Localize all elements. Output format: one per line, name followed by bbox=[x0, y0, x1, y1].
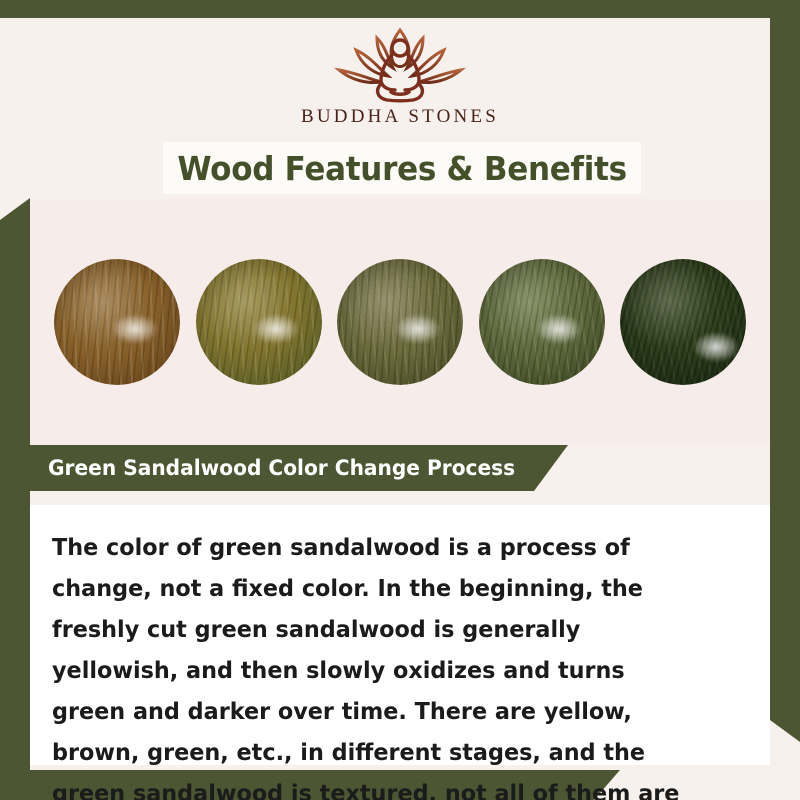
bead-stage-5 bbox=[620, 259, 746, 385]
bead-highlight bbox=[693, 332, 739, 362]
bead-gallery bbox=[30, 199, 770, 445]
bead-stage-3 bbox=[337, 259, 463, 385]
infographic-page: BUDDHA STONES Wood Features & Benefits bbox=[0, 0, 800, 800]
description-panel: The color of green sandalwood is a proce… bbox=[30, 505, 770, 765]
section-banner: Green Sandalwood Color Change Process bbox=[30, 445, 568, 491]
section-banner-title: Green Sandalwood Color Change Process bbox=[48, 456, 515, 480]
lotus-meditation-icon bbox=[325, 22, 475, 104]
page-title: Wood Features & Benefits bbox=[177, 149, 626, 188]
brand-logo: BUDDHA STONES bbox=[0, 22, 800, 142]
bead-stage-4 bbox=[479, 259, 605, 385]
frame-top-border bbox=[0, 0, 800, 18]
frame-left-border bbox=[0, 198, 30, 800]
bead-shading bbox=[620, 259, 746, 385]
page-title-band: Wood Features & Benefits bbox=[163, 142, 641, 194]
description-text: The color of green sandalwood is a proce… bbox=[52, 527, 706, 800]
bead-stage-1 bbox=[54, 259, 180, 385]
bead-stage-2 bbox=[196, 259, 322, 385]
brand-name: BUDDHA STONES bbox=[301, 106, 499, 128]
